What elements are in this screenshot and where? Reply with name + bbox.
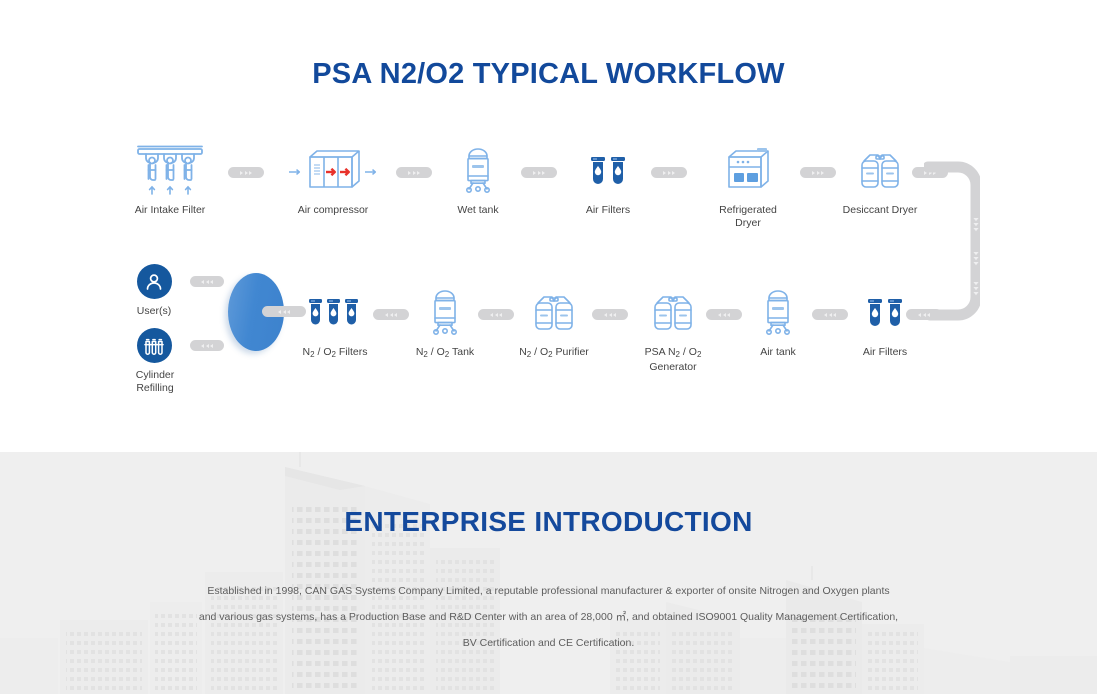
connector-arrow — [800, 167, 836, 178]
node-n2o2-purifier[interactable]: N2 / O2 Purifier — [508, 285, 600, 361]
node-label: Wet tank — [438, 204, 518, 217]
connector-arrow — [228, 167, 264, 178]
n2o2-purifier-icon — [508, 285, 600, 337]
node-n2o2-tank[interactable]: N2 / O2 Tank — [403, 285, 487, 361]
node-label: N2 / O2 Filters — [292, 346, 378, 361]
node-label: Desiccant Dryer — [832, 204, 928, 217]
node-air-intake-filter[interactable]: Air Intake Filter — [122, 143, 218, 217]
node-desiccant-dryer[interactable]: Desiccant Dryer — [832, 143, 928, 217]
node-n2o2-filters[interactable]: N2 / O2 Filters — [292, 285, 378, 361]
wet-tank-icon — [438, 143, 518, 195]
air-compressor-icon — [283, 143, 383, 195]
refrigerated-dryer-icon — [700, 143, 796, 195]
user-circle-icon — [137, 264, 172, 299]
node-label: Air tank — [738, 346, 818, 359]
node-wet-tank[interactable]: Wet tank — [438, 143, 518, 217]
node-label: Cylinder Refilling — [120, 369, 190, 395]
n2o2-tank-icon — [403, 285, 487, 337]
connector-arrow — [651, 167, 687, 178]
connector-arrow — [521, 167, 557, 178]
node-label: User(s) — [120, 305, 188, 318]
node-label: Refrigerated Dryer — [700, 204, 796, 230]
node-users[interactable]: User(s) — [120, 264, 188, 318]
node-refrigerated-dryer[interactable]: Refrigerated Dryer — [700, 143, 796, 230]
connector-arrow — [373, 309, 409, 320]
node-air-compressor[interactable]: Air compressor — [283, 143, 383, 217]
node-label: Air Filters — [845, 346, 925, 359]
wrap-around-pipe — [924, 160, 980, 325]
page-root: PSA N2/O2 TYPICAL WORKFLOW — [0, 0, 1097, 694]
node-air-tank[interactable]: Air tank — [738, 285, 818, 359]
node-air-filters-2[interactable]: Air Filters — [845, 285, 925, 359]
connector-arrow — [190, 276, 224, 287]
node-label: N2 / O2 Purifier — [508, 346, 600, 361]
node-label: PSA N2 / O2 Generator — [625, 346, 721, 374]
workflow-section: PSA N2/O2 TYPICAL WORKFLOW — [0, 0, 1097, 452]
workflow-diagram: Air Intake Filter — [0, 0, 1097, 452]
enterprise-title: ENTERPRISE INTRODUCTION — [0, 506, 1097, 538]
node-label: Air Intake Filter — [122, 204, 218, 217]
air-tank-icon — [738, 285, 818, 337]
psa-generator-icon — [625, 285, 721, 337]
node-air-filters[interactable]: Air Filters — [568, 143, 648, 217]
node-label: Air Filters — [568, 204, 648, 217]
cityscape-watermark — [0, 452, 1097, 694]
connector-arrow — [396, 167, 432, 178]
node-label: N2 / O2 Tank — [403, 346, 487, 361]
connector-arrow — [190, 340, 224, 351]
enterprise-section: ENTERPRISE INTRODUCTION Established in 1… — [0, 452, 1097, 694]
air-filters-icon — [568, 143, 648, 195]
paragraph-line-2: and various gas systems, has a Productio… — [169, 604, 929, 630]
paragraph-line-1: Established in 1998, CAN GAS Systems Com… — [169, 578, 929, 604]
paragraph-line-3: BV Certification and CE Certification. — [169, 630, 929, 656]
air-filters-icon — [845, 285, 925, 337]
node-label: Air compressor — [283, 204, 383, 217]
node-cylinder-refilling[interactable]: Cylinder Refilling — [120, 328, 188, 395]
enterprise-paragraph: Established in 1998, CAN GAS Systems Com… — [169, 578, 929, 656]
cylinder-circle-icon — [137, 328, 172, 363]
node-psa-generator[interactable]: PSA N2 / O2 Generator — [625, 285, 721, 374]
connector-arrow — [262, 306, 306, 317]
air-intake-filter-icon — [122, 143, 218, 195]
